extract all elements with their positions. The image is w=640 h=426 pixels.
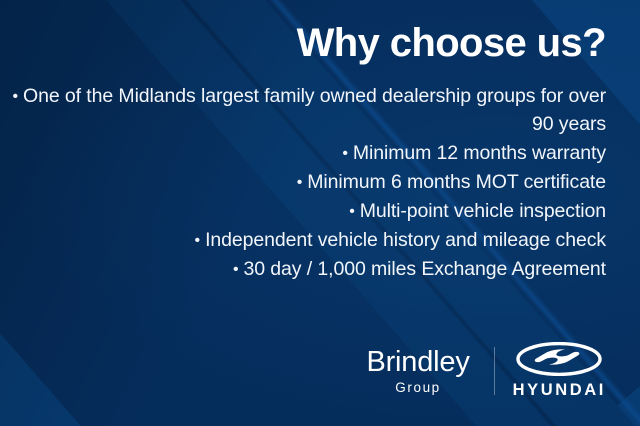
list-item: Minimum 6 months MOT certificate	[0, 168, 606, 197]
hyundai-emblem-icon	[516, 342, 602, 376]
hyundai-logo: HYUNDAI	[513, 342, 606, 400]
hyundai-wordmark: HYUNDAI	[513, 381, 606, 400]
list-item: One of the Midlands largest family owned…	[0, 82, 606, 139]
page-title: Why choose us?	[0, 0, 606, 64]
brindley-subtitle: Group	[366, 381, 469, 395]
benefits-list: One of the Midlands largest family owned…	[0, 64, 606, 285]
brindley-group-logo: Brindley Group	[366, 348, 475, 395]
brindley-wordmark: Brindley	[366, 348, 469, 377]
list-item: Independent vehicle history and mileage …	[0, 226, 606, 255]
promotional-slide: Why choose us? One of the Midlands large…	[0, 0, 640, 426]
list-item: 30 day / 1,000 miles Exchange Agreement	[0, 255, 606, 284]
logo-divider	[494, 347, 495, 395]
list-item: Multi-point vehicle inspection	[0, 197, 606, 226]
logo-lockup: Brindley Group HYUNDAI	[366, 342, 606, 400]
list-item: Minimum 12 months warranty	[0, 139, 606, 168]
